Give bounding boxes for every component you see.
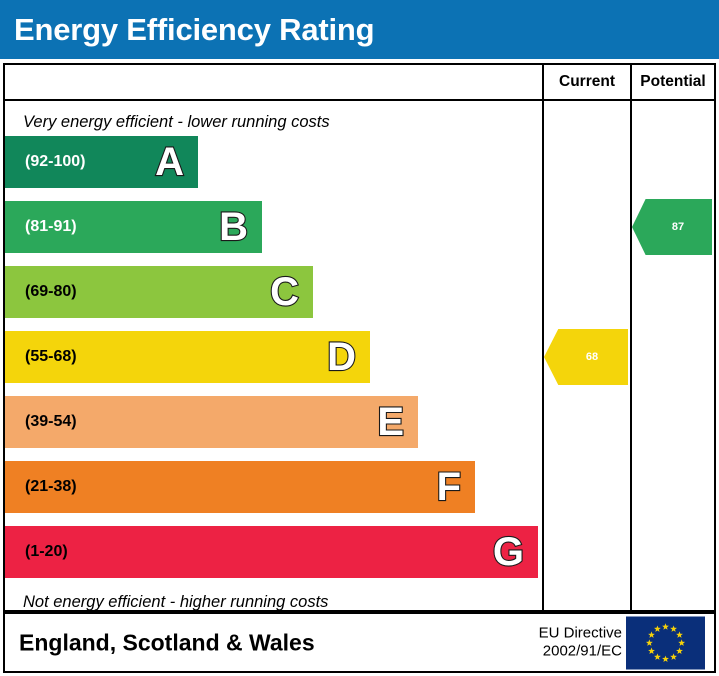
band-g: (1-20)G <box>5 526 538 578</box>
band-d: (55-68)D <box>5 331 370 383</box>
rating-arrow-current: 68 <box>544 329 628 385</box>
band-letter-c: C <box>270 272 299 312</box>
band-range-g: (1-20) <box>5 544 68 560</box>
chart-frame: Current Potential Very energy efficient … <box>3 63 716 612</box>
region-label: England, Scotland & Wales <box>19 629 315 656</box>
caption-inefficient: Not energy efficient - higher running co… <box>23 593 328 612</box>
band-range-e: (39-54) <box>5 414 77 430</box>
eu-directive-line2: 2002/91/EC <box>539 643 622 662</box>
band-b: (81-91)B <box>5 201 262 253</box>
page-title: Energy Efficiency Rating <box>0 14 374 45</box>
column-header-potential: Potential <box>632 65 714 99</box>
band-letter-a: A <box>155 142 184 182</box>
column-divider-potential <box>630 65 632 610</box>
chart-footer: England, Scotland & Wales EU Directive 2… <box>3 612 716 673</box>
band-e: (39-54)E <box>5 396 418 448</box>
band-range-a: (92-100) <box>5 154 85 170</box>
band-letter-d: D <box>327 337 356 377</box>
band-list: (92-100)A(81-91)B(69-80)C(55-68)D(39-54)… <box>5 136 542 591</box>
band-range-f: (21-38) <box>5 479 77 495</box>
band-f: (21-38)F <box>5 461 475 513</box>
eu-directive-label: EU Directive 2002/91/EC <box>539 624 622 662</box>
chart-header: Energy Efficiency Rating <box>0 0 719 59</box>
caption-efficient: Very energy efficient - lower running co… <box>23 113 330 132</box>
eu-flag-icon <box>626 616 705 669</box>
band-letter-f: F <box>437 467 461 507</box>
band-letter-b: B <box>219 207 248 247</box>
eu-directive-line1: EU Directive <box>539 624 622 643</box>
column-header-current: Current <box>544 65 630 99</box>
rating-value-current: 68 <box>574 352 598 363</box>
rating-value-potential: 87 <box>660 222 684 233</box>
band-range-c: (69-80) <box>5 284 77 300</box>
rating-arrow-potential: 87 <box>632 199 712 255</box>
band-range-d: (55-68) <box>5 349 77 365</box>
energy-efficiency-rating-chart: Energy Efficiency Rating Current Potenti… <box>0 0 719 676</box>
eu-flag-stars <box>627 617 704 668</box>
column-divider-current <box>542 65 544 610</box>
band-c: (69-80)C <box>5 266 313 318</box>
band-letter-e: E <box>377 402 404 442</box>
band-range-b: (81-91) <box>5 219 77 235</box>
band-letter-g: G <box>493 532 524 572</box>
band-a: (92-100)A <box>5 136 198 188</box>
